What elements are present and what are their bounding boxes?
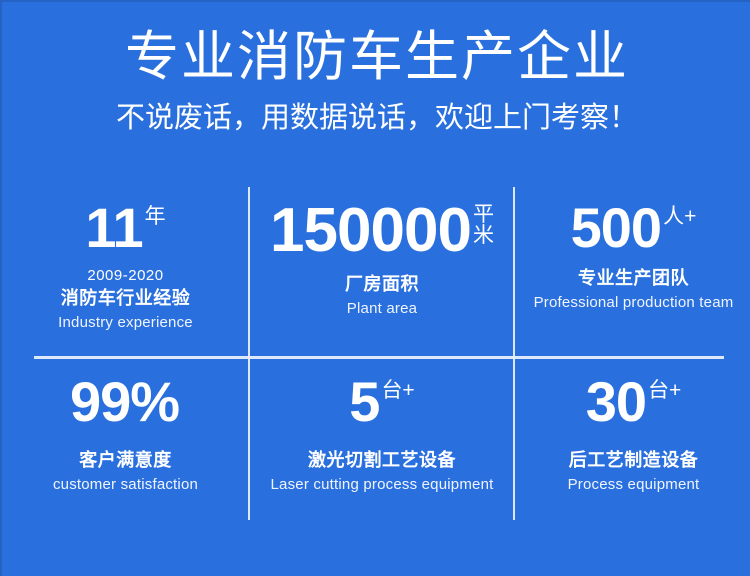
stat-label-cn: 消防车行业经验 <box>58 284 193 310</box>
poster-header: 专业消防车生产企业 不说废话，用数据说话，欢迎上门考察！ <box>2 2 750 138</box>
stat-label-en: Process equipment <box>568 476 700 493</box>
stat-labels: 2009-2020 消防车行业经验 Industry experience <box>58 258 193 331</box>
stat-number-line: 30 台+ <box>586 374 682 430</box>
stat-label-en: customer satisfaction <box>53 476 198 493</box>
stat-label-cn: 客户满意度 <box>53 446 198 472</box>
stat-number: 5 <box>349 374 379 430</box>
stat-labels: 激光切割工艺设备 Laser cutting process equipment <box>271 446 494 493</box>
stat-unit: 人+ <box>663 200 696 228</box>
stat-labels: 客户满意度 customer satisfaction <box>53 446 198 493</box>
stat-number-line: 11 年 <box>85 200 165 256</box>
stat-label-cn: 激光切割工艺设备 <box>271 446 494 472</box>
stat-number-line: 99% <box>70 374 181 430</box>
promo-poster: 专业消防车生产企业 不说废话，用数据说话，欢迎上门考察！ 11 年 2009-2… <box>0 0 750 576</box>
page-subtitle: 不说废话，用数据说话，欢迎上门考察！ <box>2 98 750 138</box>
stat-number: 500 <box>571 200 661 256</box>
stat-number: 11 <box>85 200 142 256</box>
stats-grid: 11 年 2009-2020 消防车行业经验 Industry experien… <box>2 180 750 528</box>
stats-row-1: 11 年 2009-2020 消防车行业经验 Industry experien… <box>2 180 750 354</box>
stat-label-cn: 后工艺制造设备 <box>568 446 700 472</box>
stat-label-cn: 专业生产团队 <box>534 264 734 290</box>
stat-label-en: Plant area <box>345 300 419 317</box>
stat-number: 30 <box>586 374 646 430</box>
stat-cell-production-team: 500 人+ 专业生产团队 Professional production te… <box>515 180 750 354</box>
stat-cell-customer-satisfaction: 99% 客户满意度 customer satisfaction <box>2 354 249 528</box>
stat-number-line: 150000 平 米 <box>270 200 494 262</box>
stat-unit: 台+ <box>648 374 681 402</box>
stat-cell-process-equipment: 30 台+ 后工艺制造设备 Process equipment <box>515 354 750 528</box>
stat-number-line: 5 台+ <box>349 374 414 430</box>
stat-label-en: Industry experience <box>58 314 193 331</box>
stat-unit: 年 <box>145 200 166 228</box>
stat-number: 99% <box>70 374 179 430</box>
stat-label-en: Professional production team <box>534 294 734 311</box>
stat-cell-plant-area: 150000 平 米 厂房面积 Plant area <box>249 180 515 354</box>
stat-number-line: 500 人+ <box>571 200 697 256</box>
stat-labels: 后工艺制造设备 Process equipment <box>568 446 700 493</box>
stat-labels: 厂房面积 Plant area <box>345 270 419 317</box>
stat-cell-laser-cutting-equipment: 5 台+ 激光切割工艺设备 Laser cutting process equi… <box>249 354 515 528</box>
stats-row-2: 99% 客户满意度 customer satisfaction 5 台+ 激光切… <box>2 354 750 528</box>
stat-number: 150000 <box>270 200 471 262</box>
stat-label-en: Laser cutting process equipment <box>271 476 494 493</box>
stat-year-range: 2009-2020 <box>58 267 193 284</box>
stat-unit: 台+ <box>381 374 414 402</box>
stat-labels: 专业生产团队 Professional production team <box>534 264 734 311</box>
page-title: 专业消防车生产企业 <box>2 26 750 88</box>
stat-label-cn: 厂房面积 <box>345 270 419 296</box>
stat-cell-industry-experience: 11 年 2009-2020 消防车行业经验 Industry experien… <box>2 180 249 354</box>
stat-unit: 平 米 <box>473 200 494 246</box>
